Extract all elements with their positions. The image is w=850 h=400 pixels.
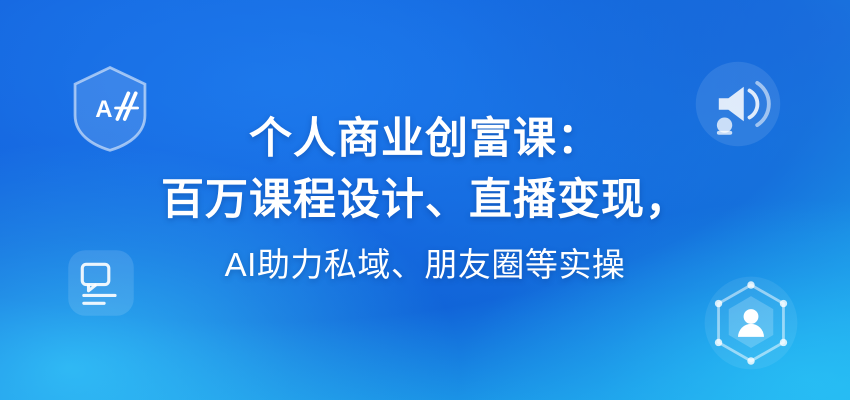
headline-line-1: 个人商业创富课：: [40, 112, 810, 167]
headline-block: 个人商业创富课： 百万课程设计、直播变现， AI助力私域、朋友圈等实操: [0, 112, 850, 286]
headline-line-2: 百万课程设计、直播变现，: [40, 173, 810, 228]
headline-line-3: AI助力私域、朋友圈等实操: [40, 244, 810, 286]
course-promo-banner: A: [0, 0, 850, 400]
user-hexagon-icon: [700, 272, 802, 374]
